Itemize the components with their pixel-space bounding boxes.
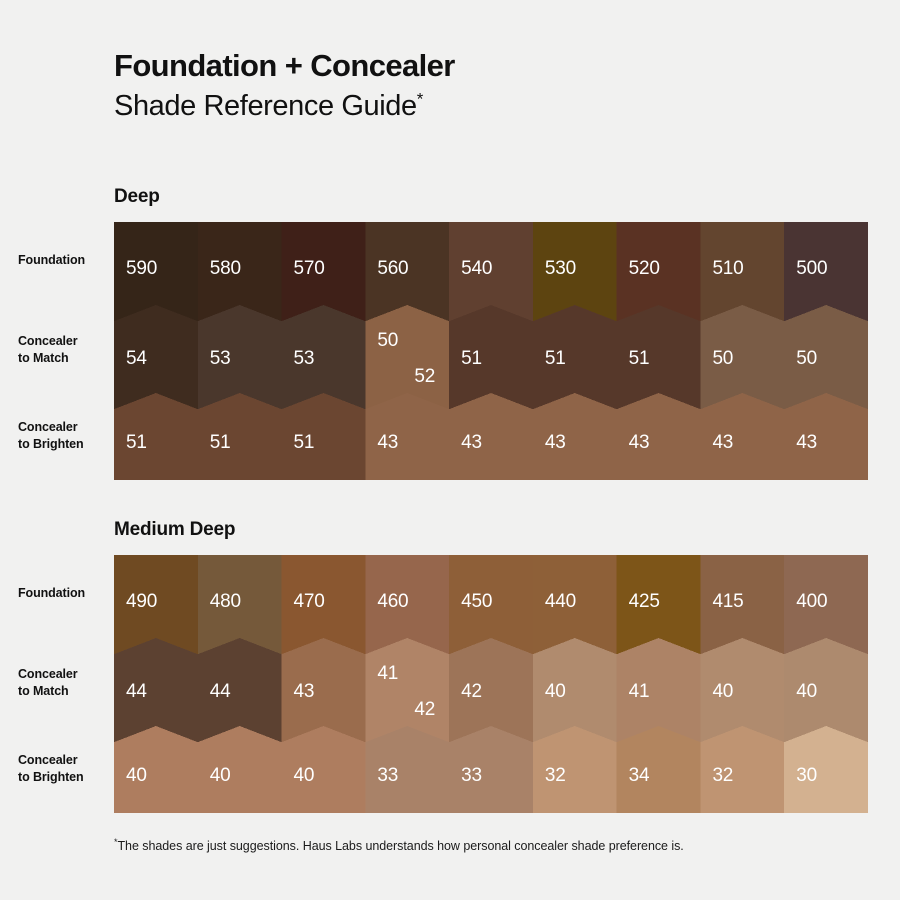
row-label-match-line2: to Match [18,684,69,698]
cell-label-foundation-450: 450 [461,591,492,612]
row-label-foundation-text: Foundation [18,253,85,267]
cell-label-brighten-43: 43 [377,432,398,453]
cell-label-brighten-32: 32 [712,765,733,786]
cell-label-brighten-43: 43 [712,432,733,453]
row-labels-deep: Foundation Concealer to Match Concealer … [0,222,106,480]
cell-label-brighten-33: 33 [461,765,482,786]
cell-label-foundation-425: 425 [629,591,660,612]
footnote-text: The shades are just suggestions. Haus La… [117,839,683,853]
cell-label-match-40: 40 [712,681,733,702]
cell-label-match-51: 51 [629,348,650,369]
cell-label-foundation-570: 570 [294,258,325,279]
row-label-match-line2: to Match [18,351,69,365]
page-title-primary: Foundation + Concealer [114,48,854,85]
cell-label-foundation-460: 460 [377,591,408,612]
cell-label-foundation-470: 470 [294,591,325,612]
shade-grid-medium-deep-svg: 4904440480444047043404604142334504233440… [114,555,868,813]
cell-label-match-43: 43 [294,681,315,702]
shade-grid-deep-svg: 5905451580535157053515605052435405143530… [114,222,868,480]
row-label-concealer-to-brighten: Concealer to Brighten [0,752,88,787]
cell-label-match-53: 53 [294,348,315,369]
cell-label-brighten-34: 34 [629,765,650,786]
row-label-brighten-line1: Concealer [18,420,78,434]
footnote: *The shades are just suggestions. Haus L… [114,838,874,856]
cell-label-foundation-500: 500 [796,258,827,279]
page-title-secondary: Shade Reference Guide* [114,89,854,124]
cell-label-brighten-32: 32 [545,765,566,786]
row-label-brighten-line2: to Brighten [18,437,84,451]
cell-label-match-51: 51 [461,348,482,369]
row-label-concealer-to-brighten: Concealer to Brighten [0,419,88,454]
row-label-match-line1: Concealer [18,334,78,348]
cell-label-match-51: 51 [545,348,566,369]
cell-label-foundation-530: 530 [545,258,576,279]
cell-label-foundation-520: 520 [629,258,660,279]
row-label-brighten-line1: Concealer [18,753,78,767]
cell-label-match-41: 41 [629,681,650,702]
cell-label-foundation-480: 480 [210,591,241,612]
shade-grid-deep: 5905451580535157053515605052435405143530… [114,222,868,480]
cell-label-brighten-40: 40 [294,765,315,786]
cell-label-brighten-43: 43 [629,432,650,453]
cell-label-foundation-590: 590 [126,258,157,279]
section-heading-deep: Deep [114,186,160,208]
cell-label-match-split-52: 52 [414,366,435,387]
cell-label-match-44: 44 [126,681,147,702]
row-label-match-line1: Concealer [18,667,78,681]
cell-label-match-split-42: 42 [414,699,435,720]
cell-label-foundation-580: 580 [210,258,241,279]
cell-label-foundation-510: 510 [712,258,743,279]
title-asterisk: * [417,89,423,108]
cell-label-foundation-490: 490 [126,591,157,612]
cell-label-foundation-440: 440 [545,591,576,612]
cell-label-brighten-43: 43 [796,432,817,453]
cell-label-brighten-40: 40 [210,765,231,786]
cell-label-brighten-30: 30 [796,765,817,786]
cell-label-match-41: 41 [377,663,398,684]
cell-label-match-40: 40 [796,681,817,702]
cell-label-match-44: 44 [210,681,231,702]
row-label-foundation: Foundation [0,252,88,269]
cell-label-foundation-560: 560 [377,258,408,279]
cell-label-match-50: 50 [712,348,733,369]
cell-label-match-42: 42 [461,681,482,702]
cell-label-foundation-400: 400 [796,591,827,612]
shade-grid-medium-deep: 4904440480444047043404604142334504233440… [114,555,868,813]
cell-label-brighten-43: 43 [545,432,566,453]
cell-label-brighten-43: 43 [461,432,482,453]
page-title-secondary-text: Shade Reference Guide [114,90,417,122]
cell-label-match-50: 50 [377,330,398,351]
row-labels-medium-deep: Foundation Concealer to Match Concealer … [0,555,106,813]
section-heading-medium-deep: Medium Deep [114,519,235,541]
row-label-foundation: Foundation [0,585,88,602]
cell-label-foundation-540: 540 [461,258,492,279]
shade-reference-guide-page: Foundation + Concealer Shade Reference G… [0,0,900,900]
cell-label-foundation-415: 415 [712,591,743,612]
cell-label-brighten-51: 51 [126,432,147,453]
row-label-foundation-text: Foundation [18,586,85,600]
cell-label-match-40: 40 [545,681,566,702]
row-label-concealer-to-match: Concealer to Match [0,333,88,368]
cell-label-brighten-40: 40 [126,765,147,786]
cell-label-match-53: 53 [210,348,231,369]
cell-label-match-50: 50 [796,348,817,369]
cell-label-match-54: 54 [126,348,147,369]
cell-label-brighten-33: 33 [377,765,398,786]
cell-label-brighten-51: 51 [294,432,315,453]
row-label-concealer-to-match: Concealer to Match [0,666,88,701]
cell-label-brighten-51: 51 [210,432,231,453]
row-label-brighten-line2: to Brighten [18,770,84,784]
page-header: Foundation + Concealer Shade Reference G… [114,48,854,123]
